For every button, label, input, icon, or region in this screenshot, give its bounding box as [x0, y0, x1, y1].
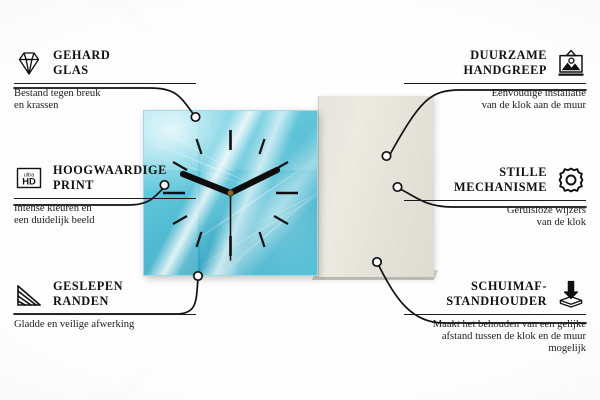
feature-heading: ultra HD HOOGWAARDIGE PRINT — [14, 161, 196, 195]
feature-silent-mechanism: STILLE MECHANISME Geruisloze wijzers van… — [404, 163, 586, 229]
divider — [404, 314, 586, 315]
infographic-canvas: GEHARD GLAS Bestand tegen breuk en krass… — [0, 0, 600, 400]
feature-description: Gladde en veilige afwerking — [14, 319, 196, 331]
connector-endpoint-mechanism — [393, 183, 401, 191]
feature-heading: STILLE MECHANISME — [404, 163, 586, 197]
feature-title: DUURZAME HANDGREEP — [463, 48, 547, 77]
gear-icon — [556, 165, 586, 195]
feature-heading: SCHUIMAF- STANDHOUDER — [404, 277, 586, 311]
feature-title: GEHARD GLAS — [53, 48, 110, 77]
feature-description: Maakt het behouden van een gelijke afsta… — [404, 319, 586, 356]
svg-text:HD: HD — [22, 176, 36, 187]
feature-description: Bestand tegen breuk en krassen — [14, 88, 196, 113]
polished-edges-icon — [14, 279, 44, 309]
ultra-hd-icon: ultra HD — [14, 163, 44, 193]
feather-filament — [204, 178, 318, 276]
feature-title: STILLE MECHANISME — [454, 165, 547, 194]
feature-polished-edges: GESLEPEN RANDEN Gladde en veilige afwerk… — [14, 277, 196, 331]
divider — [14, 198, 196, 199]
connector-endpoint-handle — [382, 152, 390, 160]
connector-endpoint-foam — [373, 258, 381, 266]
feature-heading: GEHARD GLAS — [14, 46, 196, 80]
divider — [14, 314, 196, 315]
feature-heading: GESLEPEN RANDEN — [14, 277, 196, 311]
picture-frame-icon — [556, 48, 586, 78]
feature-heading: DUURZAME HANDGREEP — [404, 46, 586, 80]
feature-foam-spacer: SCHUIMAF- STANDHOUDER Maakt het behouden… — [404, 277, 586, 356]
connector-endpoint-glass — [191, 113, 199, 121]
feather-filament — [240, 178, 318, 232]
divider — [404, 200, 586, 201]
divider — [14, 83, 196, 84]
diamond-icon — [14, 48, 44, 78]
feature-title: GESLEPEN RANDEN — [53, 279, 123, 308]
divider — [404, 83, 586, 84]
feature-title: SCHUIMAF- STANDHOUDER — [446, 279, 547, 308]
feature-high-quality-print: ultra HD HOOGWAARDIGE PRINT Intense kleu… — [14, 161, 196, 227]
down-arrow-block-icon — [556, 279, 586, 309]
feature-durable-handle: DUURZAME HANDGREEP Eenvoudige installati… — [404, 46, 586, 112]
feature-description: Intense kleuren en een duidelijk beeld — [14, 203, 196, 228]
feature-tempered-glass: GEHARD GLAS Bestand tegen breuk en krass… — [14, 46, 196, 112]
feature-description: Eenvoudige installatie van de klok aan d… — [404, 88, 586, 113]
feather-filament — [178, 171, 318, 276]
feature-description: Geruisloze wijzers van de klok — [404, 205, 586, 230]
feature-title: HOOGWAARDIGE PRINT — [53, 163, 167, 192]
